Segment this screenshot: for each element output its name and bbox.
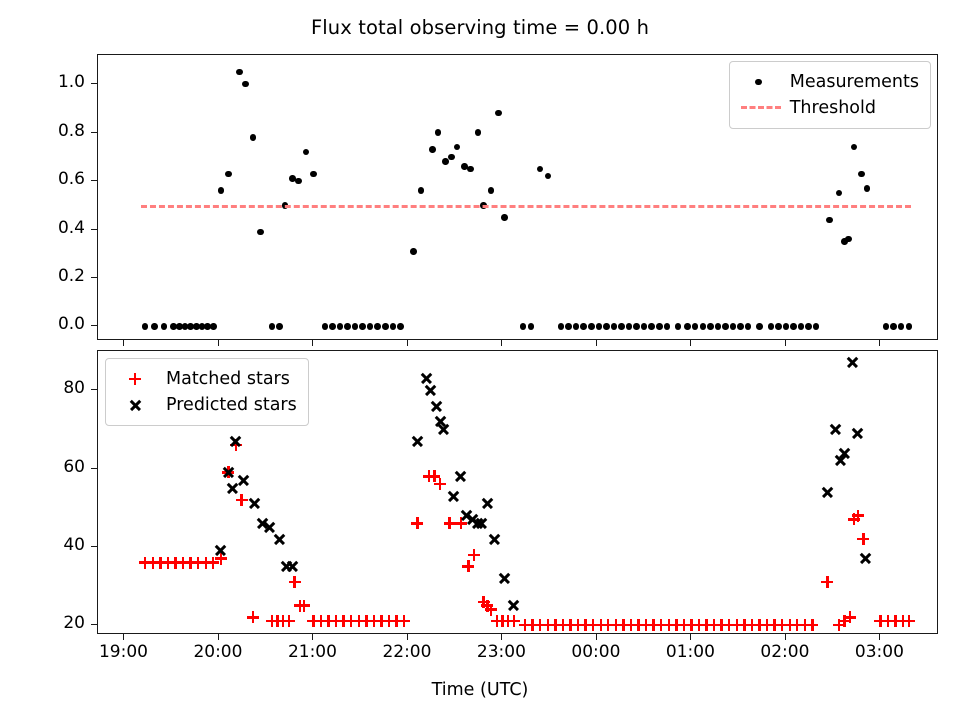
data-point-dot — [310, 171, 317, 178]
data-point-dot — [374, 323, 381, 330]
y-tick-label: 1.0 — [1, 72, 85, 92]
data-point-dot — [722, 323, 729, 330]
x-tick-mark — [879, 634, 880, 640]
data-point-dot — [242, 81, 249, 88]
data-point-dot — [565, 323, 572, 330]
y-tick-mark — [91, 277, 97, 278]
data-point-dot — [397, 323, 404, 330]
x-tick-mark — [218, 634, 219, 640]
data-point-dot — [454, 144, 461, 151]
data-point-dot — [618, 323, 625, 330]
data-point-dot — [641, 323, 648, 330]
data-point-dot — [257, 229, 264, 236]
x-tick-mark — [785, 634, 786, 640]
data-point-dot — [142, 323, 149, 330]
x-tick-label: 21:00 — [288, 642, 337, 662]
x-tick-label: 22:00 — [382, 642, 431, 662]
y-tick-mark — [91, 229, 97, 230]
data-point-dot — [344, 323, 351, 330]
y-tick-mark — [91, 624, 97, 625]
data-point-dot — [775, 323, 782, 330]
data-point-dot — [768, 323, 775, 330]
data-point-dot — [210, 323, 217, 330]
x-tick-label: 20:00 — [193, 642, 242, 662]
x-tick-mark — [407, 634, 408, 640]
data-point-dot — [303, 149, 310, 156]
data-point-dot — [161, 323, 168, 330]
y-tick-label: 0.2 — [1, 266, 85, 286]
y-tick-mark — [91, 83, 97, 84]
data-point-dot — [475, 129, 482, 136]
data-point-dot — [883, 323, 890, 330]
y-tick-mark — [91, 468, 97, 469]
data-point-dot — [352, 323, 359, 330]
data-point-dot — [520, 323, 527, 330]
data-point-dot — [442, 158, 449, 165]
legend-label-measurements: Measurements — [785, 72, 919, 92]
y-tick-mark — [91, 325, 97, 326]
data-point-dot — [488, 187, 495, 194]
data-point-dot — [269, 323, 276, 330]
legend-item-threshold: Threshold — [739, 95, 919, 121]
legend-label-matched-stars: Matched stars — [161, 369, 290, 389]
page-title: Flux total observing time = 0.00 h — [0, 16, 960, 39]
y-tick-label: 60 — [1, 457, 85, 477]
y-tick-mark — [91, 389, 97, 390]
data-point-dot — [890, 323, 897, 330]
data-point-dot — [611, 323, 618, 330]
data-point-dot — [813, 323, 820, 330]
data-point-dot — [898, 323, 905, 330]
x-tick-label: 00:00 — [571, 642, 620, 662]
data-point-dot — [545, 173, 552, 180]
data-point-dot — [390, 323, 397, 330]
data-point-dot — [218, 187, 225, 194]
threshold-dash-icon — [739, 97, 785, 119]
threshold-line — [141, 205, 911, 208]
x-tick-mark — [596, 634, 597, 640]
data-point-dot — [836, 190, 843, 197]
data-point-dot — [648, 323, 655, 330]
data-point-dot — [906, 323, 913, 330]
data-point-dot — [495, 110, 502, 117]
data-point-dot — [359, 323, 366, 330]
data-point-dot — [730, 323, 737, 330]
x-tick-mark-top-panel — [123, 340, 124, 346]
x-tick-mark-top-panel — [407, 340, 408, 346]
data-point-dot — [707, 323, 714, 330]
y-tick-label: 0.8 — [1, 121, 85, 141]
data-point-dot — [580, 323, 587, 330]
data-point-dot — [851, 144, 858, 151]
y-tick-label: 80 — [1, 378, 85, 398]
data-point-dot — [573, 323, 580, 330]
x-axis-label: Time (UTC) — [0, 680, 960, 700]
data-point-dot — [410, 248, 417, 255]
data-point-dot — [337, 323, 344, 330]
data-point-dot — [236, 69, 243, 76]
x-tick-label: 03:00 — [855, 642, 904, 662]
data-point-dot — [675, 323, 682, 330]
data-point-dot — [558, 323, 565, 330]
data-point-dot — [626, 323, 633, 330]
panel-ratio: Measurements Threshold — [97, 54, 938, 340]
data-point-dot — [864, 185, 871, 192]
data-point-dot — [737, 323, 744, 330]
x-tick-mark — [123, 634, 124, 640]
measurements-dot-icon — [739, 71, 785, 93]
matched-plus-icon — [115, 368, 161, 390]
data-point-dot — [295, 178, 302, 185]
legend-count: Matched stars Predicted stars — [105, 358, 309, 426]
x-tick-mark — [501, 634, 502, 640]
y-tick-mark — [91, 180, 97, 181]
data-point-dot — [448, 154, 455, 161]
legend-label-predicted-stars: Predicted stars — [161, 395, 297, 415]
x-tick-mark-top-panel — [879, 340, 880, 346]
legend-label-threshold: Threshold — [785, 98, 876, 118]
data-point-dot — [367, 323, 374, 330]
x-tick-mark-top-panel — [785, 340, 786, 346]
data-point-dot — [588, 323, 595, 330]
x-tick-mark-top-panel — [690, 340, 691, 346]
data-point-dot — [656, 323, 663, 330]
y-tick-mark — [91, 546, 97, 547]
y-tick-label: 20 — [1, 613, 85, 633]
data-point-dot — [798, 323, 805, 330]
y-tick-label: 40 — [1, 535, 85, 555]
data-point-dot — [845, 236, 852, 243]
x-tick-label: 01:00 — [666, 642, 715, 662]
data-point-dot — [467, 166, 474, 173]
data-point-dot — [826, 217, 833, 224]
data-point-dot — [783, 323, 790, 330]
data-point-dot — [633, 323, 640, 330]
data-point-dot — [250, 134, 257, 141]
data-point-dot — [435, 129, 442, 136]
data-point-dot — [528, 323, 535, 330]
x-tick-label: 23:00 — [477, 642, 526, 662]
legend-item-predicted-stars: Predicted stars — [115, 392, 297, 418]
data-point-dot — [684, 323, 691, 330]
data-point-dot — [858, 171, 865, 178]
data-point-dot — [276, 323, 283, 330]
data-point-dot — [322, 323, 329, 330]
legend-item-matched-stars: Matched stars — [115, 366, 297, 392]
data-point-dot — [596, 323, 603, 330]
data-point-dot — [151, 323, 158, 330]
x-tick-mark-top-panel — [312, 340, 313, 346]
x-tick-mark-top-panel — [596, 340, 597, 346]
x-tick-mark — [690, 634, 691, 640]
data-point-dot — [700, 323, 707, 330]
data-point-dot — [756, 323, 763, 330]
figure-container: Flux total observing time = 0.00 h Measu… — [0, 0, 960, 720]
data-point-dot — [715, 323, 722, 330]
panel-count: Matched stars Predicted stars — [97, 350, 938, 634]
legend-ratio: Measurements Threshold — [729, 61, 931, 129]
y-tick-label: 0.6 — [1, 169, 85, 189]
x-tick-mark-top-panel — [501, 340, 502, 346]
data-point-dot — [664, 323, 671, 330]
data-point-dot — [603, 323, 610, 330]
data-point-dot — [805, 323, 812, 330]
data-point-dot — [790, 323, 797, 330]
data-point-dot — [329, 323, 336, 330]
data-point-dot — [382, 323, 389, 330]
y-tick-mark — [91, 132, 97, 133]
y-tick-label: 0.0 — [1, 314, 85, 334]
data-point-dot — [418, 187, 425, 194]
x-tick-mark — [312, 634, 313, 640]
data-point-dot — [692, 323, 699, 330]
x-tick-label: 02:00 — [760, 642, 809, 662]
legend-item-measurements: Measurements — [739, 69, 919, 95]
data-point-dot — [537, 166, 544, 173]
x-tick-label: 19:00 — [99, 642, 148, 662]
data-point-dot — [501, 214, 508, 221]
x-tick-mark-top-panel — [218, 340, 219, 346]
data-point-dot — [225, 171, 232, 178]
data-point-dot — [745, 323, 752, 330]
y-tick-label: 0.4 — [1, 218, 85, 238]
data-point-dot — [429, 146, 436, 153]
predicted-cross-icon — [115, 394, 161, 416]
